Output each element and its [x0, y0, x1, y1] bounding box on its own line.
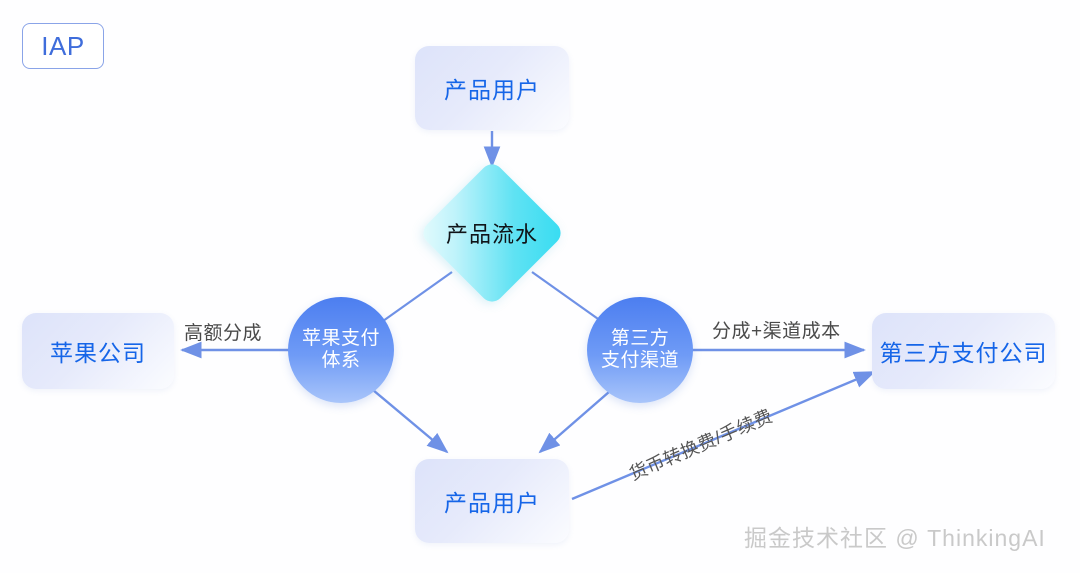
node-product-flow-label: 产品流水 [418, 159, 566, 307]
node-apple-company[interactable]: 苹果公司 [22, 313, 174, 389]
node-third-party-channel-line2: 支付渠道 [601, 350, 679, 371]
node-top-user-label: 产品用户 [444, 71, 540, 105]
edge-label-fx-and-handling-fee: 货币转换费/手续费 [625, 402, 776, 486]
node-top-user[interactable]: 产品用户 [415, 46, 569, 130]
edge-label-high-share: 高额分成 [184, 318, 262, 345]
diagram-canvas: IAP 产品用户 产品流水 苹果支付 体系 第三方 支付渠道 苹果公司 第三方支… [0, 0, 1080, 573]
edge-label-share-plus-channel-cost: 分成+渠道成本 [712, 316, 841, 343]
node-apple-pay-system[interactable]: 苹果支付 体系 [288, 297, 394, 403]
watermark: 掘金技术社区 @ ThinkingAI [744, 519, 1046, 553]
node-third-party-company-label: 第三方支付公司 [880, 334, 1048, 368]
node-bottom-user-label: 产品用户 [444, 484, 540, 518]
node-bottom-user[interactable]: 产品用户 [415, 459, 569, 543]
node-third-party-channel-line1: 第三方 [611, 328, 670, 349]
node-apple-pay-system-line2: 体系 [321, 350, 360, 371]
node-third-party-channel-label: 第三方 支付渠道 [601, 328, 679, 373]
node-third-party-channel[interactable]: 第三方 支付渠道 [587, 297, 693, 403]
node-apple-pay-system-line1: 苹果支付 [302, 328, 380, 349]
edge-third-party-to-bottom-user [540, 385, 617, 452]
edge-apple-pay-to-bottom-user [367, 385, 447, 452]
iap-tag-label: IAP [41, 31, 84, 62]
node-apple-pay-system-label: 苹果支付 体系 [302, 328, 380, 373]
node-product-flow[interactable]: 产品流水 [418, 159, 566, 307]
node-third-party-company[interactable]: 第三方支付公司 [872, 313, 1055, 389]
iap-tag: IAP [22, 23, 104, 69]
node-apple-company-label: 苹果公司 [50, 334, 146, 368]
